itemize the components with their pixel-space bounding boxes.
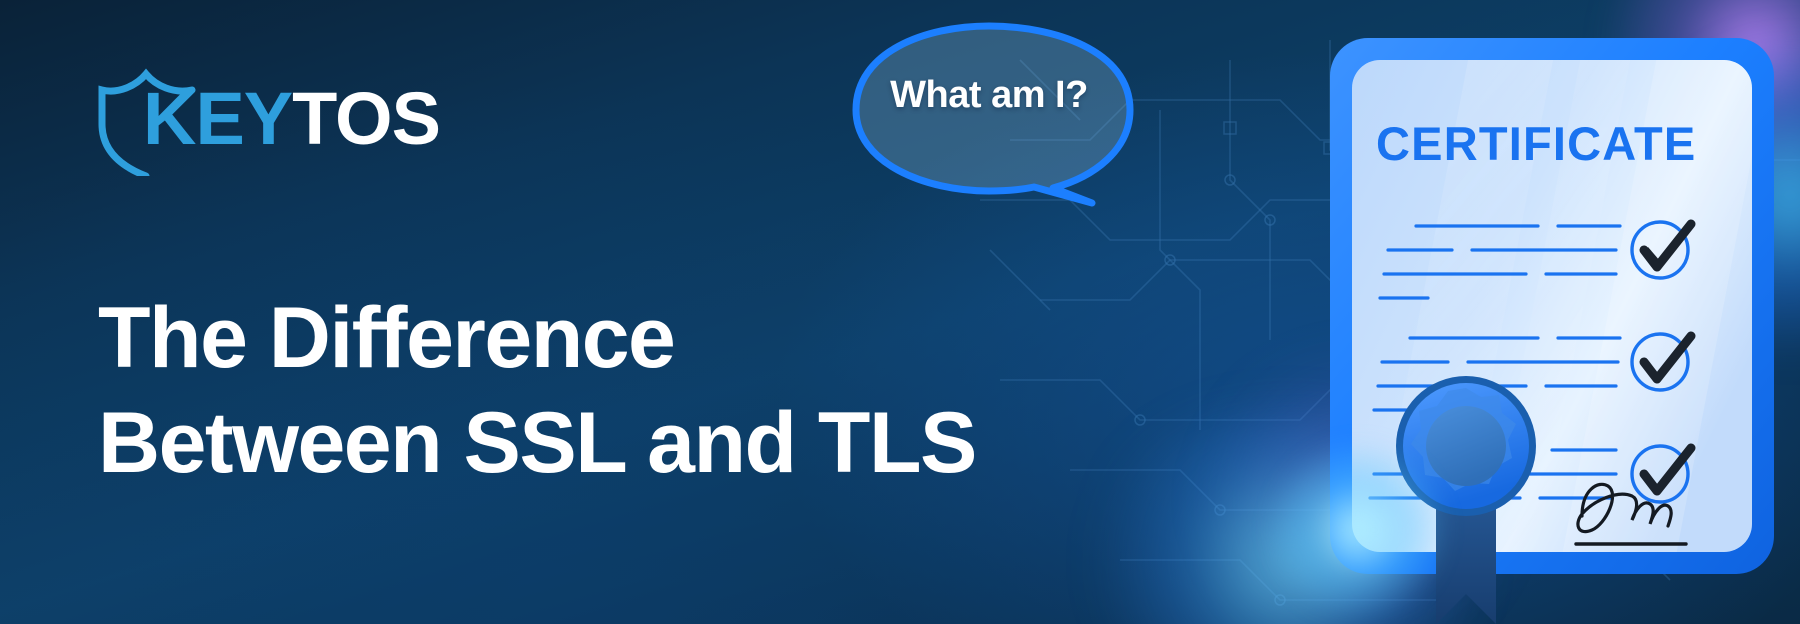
logo-tos-text: TOS [292, 77, 440, 160]
certificate-illustration: CERTIFICATE [1330, 38, 1800, 624]
banner-root: KEYTOS The Difference Between SSL and TL… [0, 0, 1800, 624]
speech-bubble: What am I? [848, 22, 1138, 207]
logo-key-text: KEY [143, 77, 292, 160]
headline-line-2: Between SSL and TLS [98, 391, 1098, 496]
keytos-logo[interactable]: KEYTOS [96, 64, 436, 176]
award-seal-icon [1396, 376, 1536, 516]
logo-wordmark: KEYTOS [143, 82, 440, 156]
speech-bubble-text: What am I? [848, 74, 1130, 117]
certificate-title: CERTIFICATE [1376, 117, 1696, 170]
page-title: The Difference Between SSL and TLS [98, 286, 1098, 496]
headline-line-1: The Difference [98, 286, 1098, 391]
